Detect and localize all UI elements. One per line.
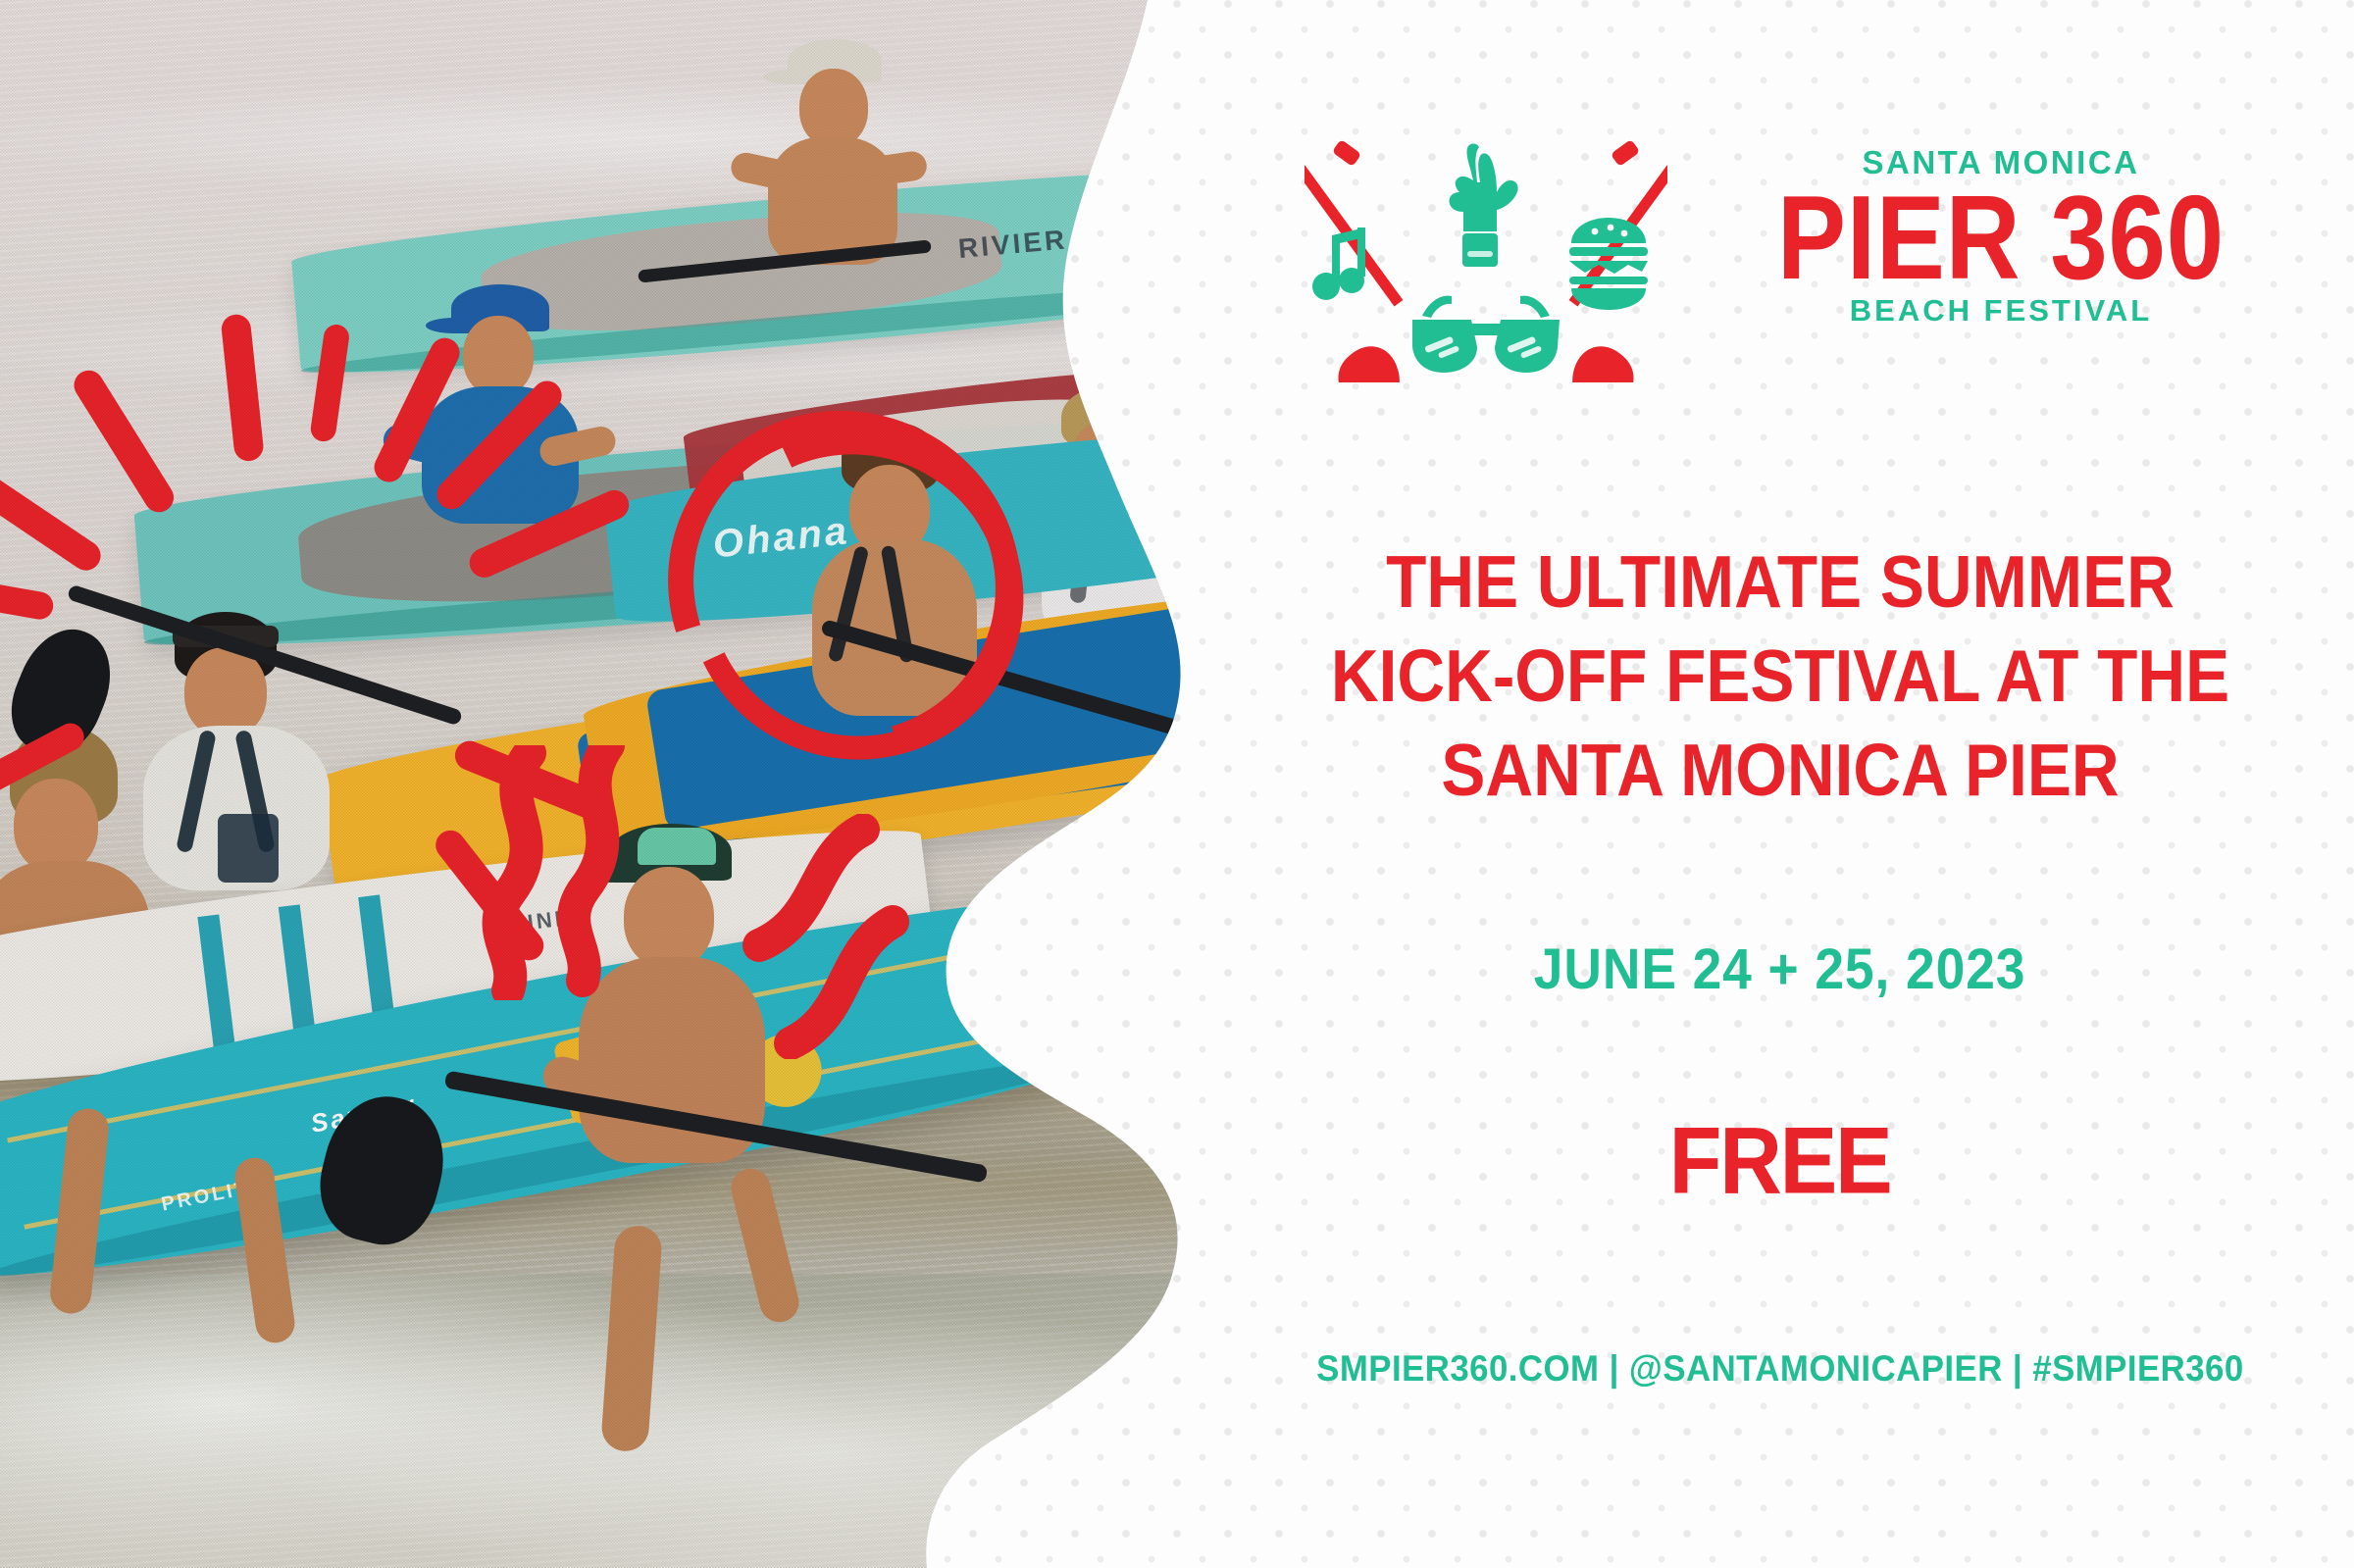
footer-text[interactable]: SMPIER360.COM | @SANTAMONICAPIER | #SMPI… — [1316, 1348, 2244, 1390]
hero-photo: RIVIERA — [0, 0, 1236, 1568]
logo-line-main: PIER 360 — [1739, 180, 2262, 294]
burger-icon — [1569, 218, 1648, 310]
headline-line-1: THE ULTIMATE SUMMER — [1300, 534, 2262, 629]
event-dates-text: JUNE 24 + 25, 2023 — [1534, 936, 2026, 1002]
price-text: FREE — [1669, 1107, 1891, 1216]
logo-badge — [1305, 137, 1667, 382]
content-column: SANTA MONICA PIER 360 BEACH FESTIVAL THE… — [1206, 0, 2354, 1568]
headline: THE ULTIMATE SUMMER KICK-OFF FESTIVAL AT… — [1246, 534, 2315, 817]
sunglasses-icon — [1412, 296, 1560, 373]
shaka-hand-icon — [1449, 143, 1517, 267]
red-squiggle-annotation-right — [696, 814, 942, 1059]
headline-line-3: SANTA MONICA PIER — [1300, 723, 2262, 817]
red-squiggle-annotation-left — [461, 745, 716, 1000]
music-note-icon — [1312, 228, 1365, 300]
poster-canvas: RIVIERA — [0, 0, 2354, 1568]
event-dates: JUNE 24 + 25, 2023 — [1246, 936, 2315, 1002]
logo-wordmark: SANTA MONICA PIER 360 BEACH FESTIVAL — [1697, 145, 2305, 328]
price-badge: FREE — [1246, 1113, 2315, 1210]
headline-line-2: KICK-OFF FESTIVAL AT THE — [1300, 629, 2262, 723]
footer-links: SMPIER360.COM | @SANTAMONICAPIER | #SMPI… — [1246, 1348, 2315, 1390]
logo-lockup: SANTA MONICA PIER 360 BEACH FESTIVAL — [1305, 137, 2305, 382]
paddler-with-hat — [731, 39, 917, 265]
